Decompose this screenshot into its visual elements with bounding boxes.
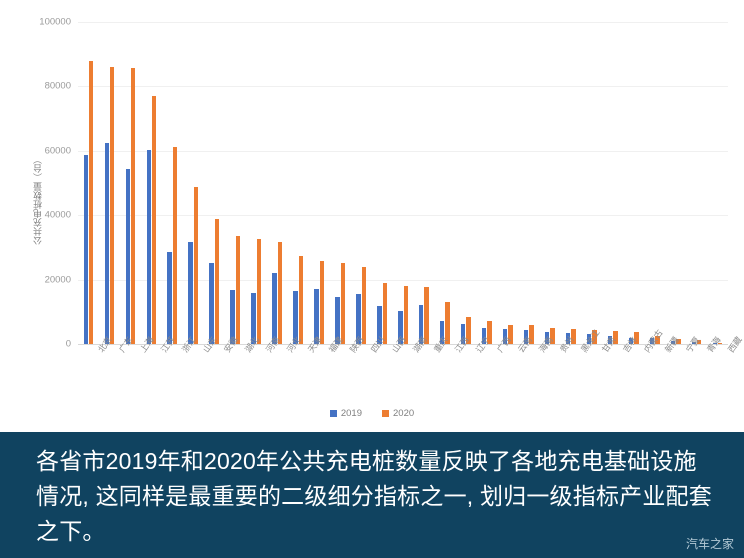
bar-2020[interactable]: [362, 267, 366, 344]
bar-group[interactable]: [434, 22, 455, 344]
x-axis-tick-label: 宁夏: [683, 348, 693, 355]
x-axis-tick-label: 黑龙江: [578, 348, 588, 355]
bar-2020[interactable]: [131, 68, 135, 344]
x-axis-tick-label: 海南: [536, 348, 546, 355]
bar-group[interactable]: [351, 22, 372, 344]
bar-group[interactable]: [288, 22, 309, 344]
x-axis-tick-label: 江苏: [158, 348, 168, 355]
bar-group[interactable]: [330, 22, 351, 344]
bar-2020[interactable]: [173, 147, 177, 344]
bar-group[interactable]: [78, 22, 99, 344]
legend-label: 2020: [393, 408, 414, 419]
bar-group[interactable]: [393, 22, 414, 344]
x-axis-tick-label: 吉林: [620, 348, 630, 355]
plot-area: 020000400006000080000100000: [78, 22, 728, 344]
bar-group[interactable]: [267, 22, 288, 344]
y-axis-tick-label: 100000: [39, 17, 78, 28]
bar-2020[interactable]: [110, 67, 114, 344]
bar-group[interactable]: [539, 22, 560, 344]
chart-legend: 20192020: [0, 408, 744, 419]
x-axis-tick-label: 河北: [284, 348, 294, 355]
x-axis-tick-label: 云南: [515, 348, 525, 355]
bar-group[interactable]: [581, 22, 602, 344]
bar-2020[interactable]: [320, 261, 324, 344]
bar-group[interactable]: [518, 22, 539, 344]
bar-2020[interactable]: [404, 286, 408, 344]
x-axis-tick-label: 湖南: [410, 348, 420, 355]
bar-group[interactable]: [162, 22, 183, 344]
bar-2020[interactable]: [424, 287, 428, 344]
bar-groups: [78, 22, 728, 344]
x-axis-tick-label: 新疆: [662, 348, 672, 355]
chart-panel: 公共充电桩数量（台） 020000400006000080000100000 北…: [0, 0, 744, 432]
legend-label: 2019: [341, 408, 362, 419]
bar-2020[interactable]: [215, 219, 219, 344]
bar-group[interactable]: [455, 22, 476, 344]
x-axis-tick-label: 辽宁: [473, 348, 483, 355]
x-axis-tick-label: 福建: [326, 348, 336, 355]
x-axis-tick-label: 山西: [389, 348, 399, 355]
bar-group[interactable]: [309, 22, 330, 344]
x-axis-tick-label: 上海: [137, 348, 147, 355]
legend-item-2019[interactable]: 2019: [330, 408, 362, 419]
bar-2020[interactable]: [341, 263, 345, 344]
y-axis-tick-label: 0: [66, 339, 78, 350]
y-axis-tick-label: 20000: [45, 274, 78, 285]
bar-group[interactable]: [141, 22, 162, 344]
legend-swatch-icon: [330, 410, 337, 417]
x-axis-tick-label: 青海: [704, 348, 714, 355]
x-axis-tick-label: 安徽: [221, 348, 231, 355]
caption-band: 各省市2019年和2020年公共充电桩数量反映了各地充电基础设施情况, 这同样是…: [0, 432, 744, 558]
x-axis-labels: 北京广东上海江苏浙江山东安徽湖北河南河北天津福建陕西四川山西湖南重庆江西辽宁广西…: [78, 346, 728, 396]
bar-2020[interactable]: [194, 187, 198, 344]
y-axis-tick-label: 80000: [45, 81, 78, 92]
x-axis-tick-label: 天津: [305, 348, 315, 355]
bar-2020[interactable]: [257, 239, 261, 344]
bar-2019[interactable]: [188, 242, 192, 344]
bar-group[interactable]: [476, 22, 497, 344]
bar-group[interactable]: [225, 22, 246, 344]
watermark: 汽车之家: [686, 535, 734, 552]
bar-group[interactable]: [99, 22, 120, 344]
x-axis-tick-label: 四川: [368, 348, 378, 355]
bar-group[interactable]: [644, 22, 665, 344]
bar-2019[interactable]: [84, 155, 88, 344]
x-axis-tick-label: 广西: [494, 348, 504, 355]
bar-2019[interactable]: [126, 169, 130, 344]
x-axis-tick-label: 重庆: [431, 348, 441, 355]
y-axis-tick-label: 40000: [45, 210, 78, 221]
bar-2019[interactable]: [105, 143, 109, 344]
bar-group[interactable]: [623, 22, 644, 344]
x-axis-tick-label: 西藏: [725, 348, 735, 355]
x-axis-tick-label: 湖北: [242, 348, 252, 355]
bar-2020[interactable]: [383, 283, 387, 344]
bar-2020[interactable]: [89, 61, 93, 344]
bar-group[interactable]: [686, 22, 707, 344]
y-axis-title: 公共充电桩数量（台）: [30, 140, 46, 260]
x-axis-tick-label: 广东: [116, 348, 126, 355]
bar-2019[interactable]: [147, 150, 151, 344]
bar-group[interactable]: [602, 22, 623, 344]
bar-group[interactable]: [497, 22, 518, 344]
x-axis-tick-label: 北京: [95, 348, 105, 355]
x-axis-tick-label: 内蒙古: [641, 348, 651, 355]
x-axis-tick-label: 陕西: [347, 348, 357, 355]
bar-group[interactable]: [372, 22, 393, 344]
y-axis-tick-label: 60000: [45, 145, 78, 156]
bar-2020[interactable]: [236, 236, 240, 344]
bar-group[interactable]: [183, 22, 204, 344]
bar-2020[interactable]: [152, 96, 156, 344]
bar-group[interactable]: [665, 22, 686, 344]
bar-group[interactable]: [707, 22, 728, 344]
x-axis-tick-label: 贵州: [557, 348, 567, 355]
x-axis-tick-label: 甘肃: [599, 348, 609, 355]
x-axis-tick-label: 河南: [263, 348, 273, 355]
bar-group[interactable]: [120, 22, 141, 344]
legend-item-2020[interactable]: 2020: [382, 408, 414, 419]
bar-2019[interactable]: [209, 263, 213, 344]
bar-2020[interactable]: [278, 242, 282, 344]
bar-group[interactable]: [560, 22, 581, 344]
bar-2019[interactable]: [167, 252, 171, 344]
bar-group[interactable]: [414, 22, 435, 344]
bar-2020[interactable]: [299, 256, 303, 344]
x-axis-tick-label: 山东: [200, 348, 210, 355]
bar-group[interactable]: [246, 22, 267, 344]
legend-swatch-icon: [382, 410, 389, 417]
x-axis-tick-label: 浙江: [179, 348, 189, 355]
bar-group[interactable]: [204, 22, 225, 344]
x-axis-tick-label: 江西: [452, 348, 462, 355]
caption-text: 各省市2019年和2020年公共充电桩数量反映了各地充电基础设施情况, 这同样是…: [36, 444, 712, 549]
